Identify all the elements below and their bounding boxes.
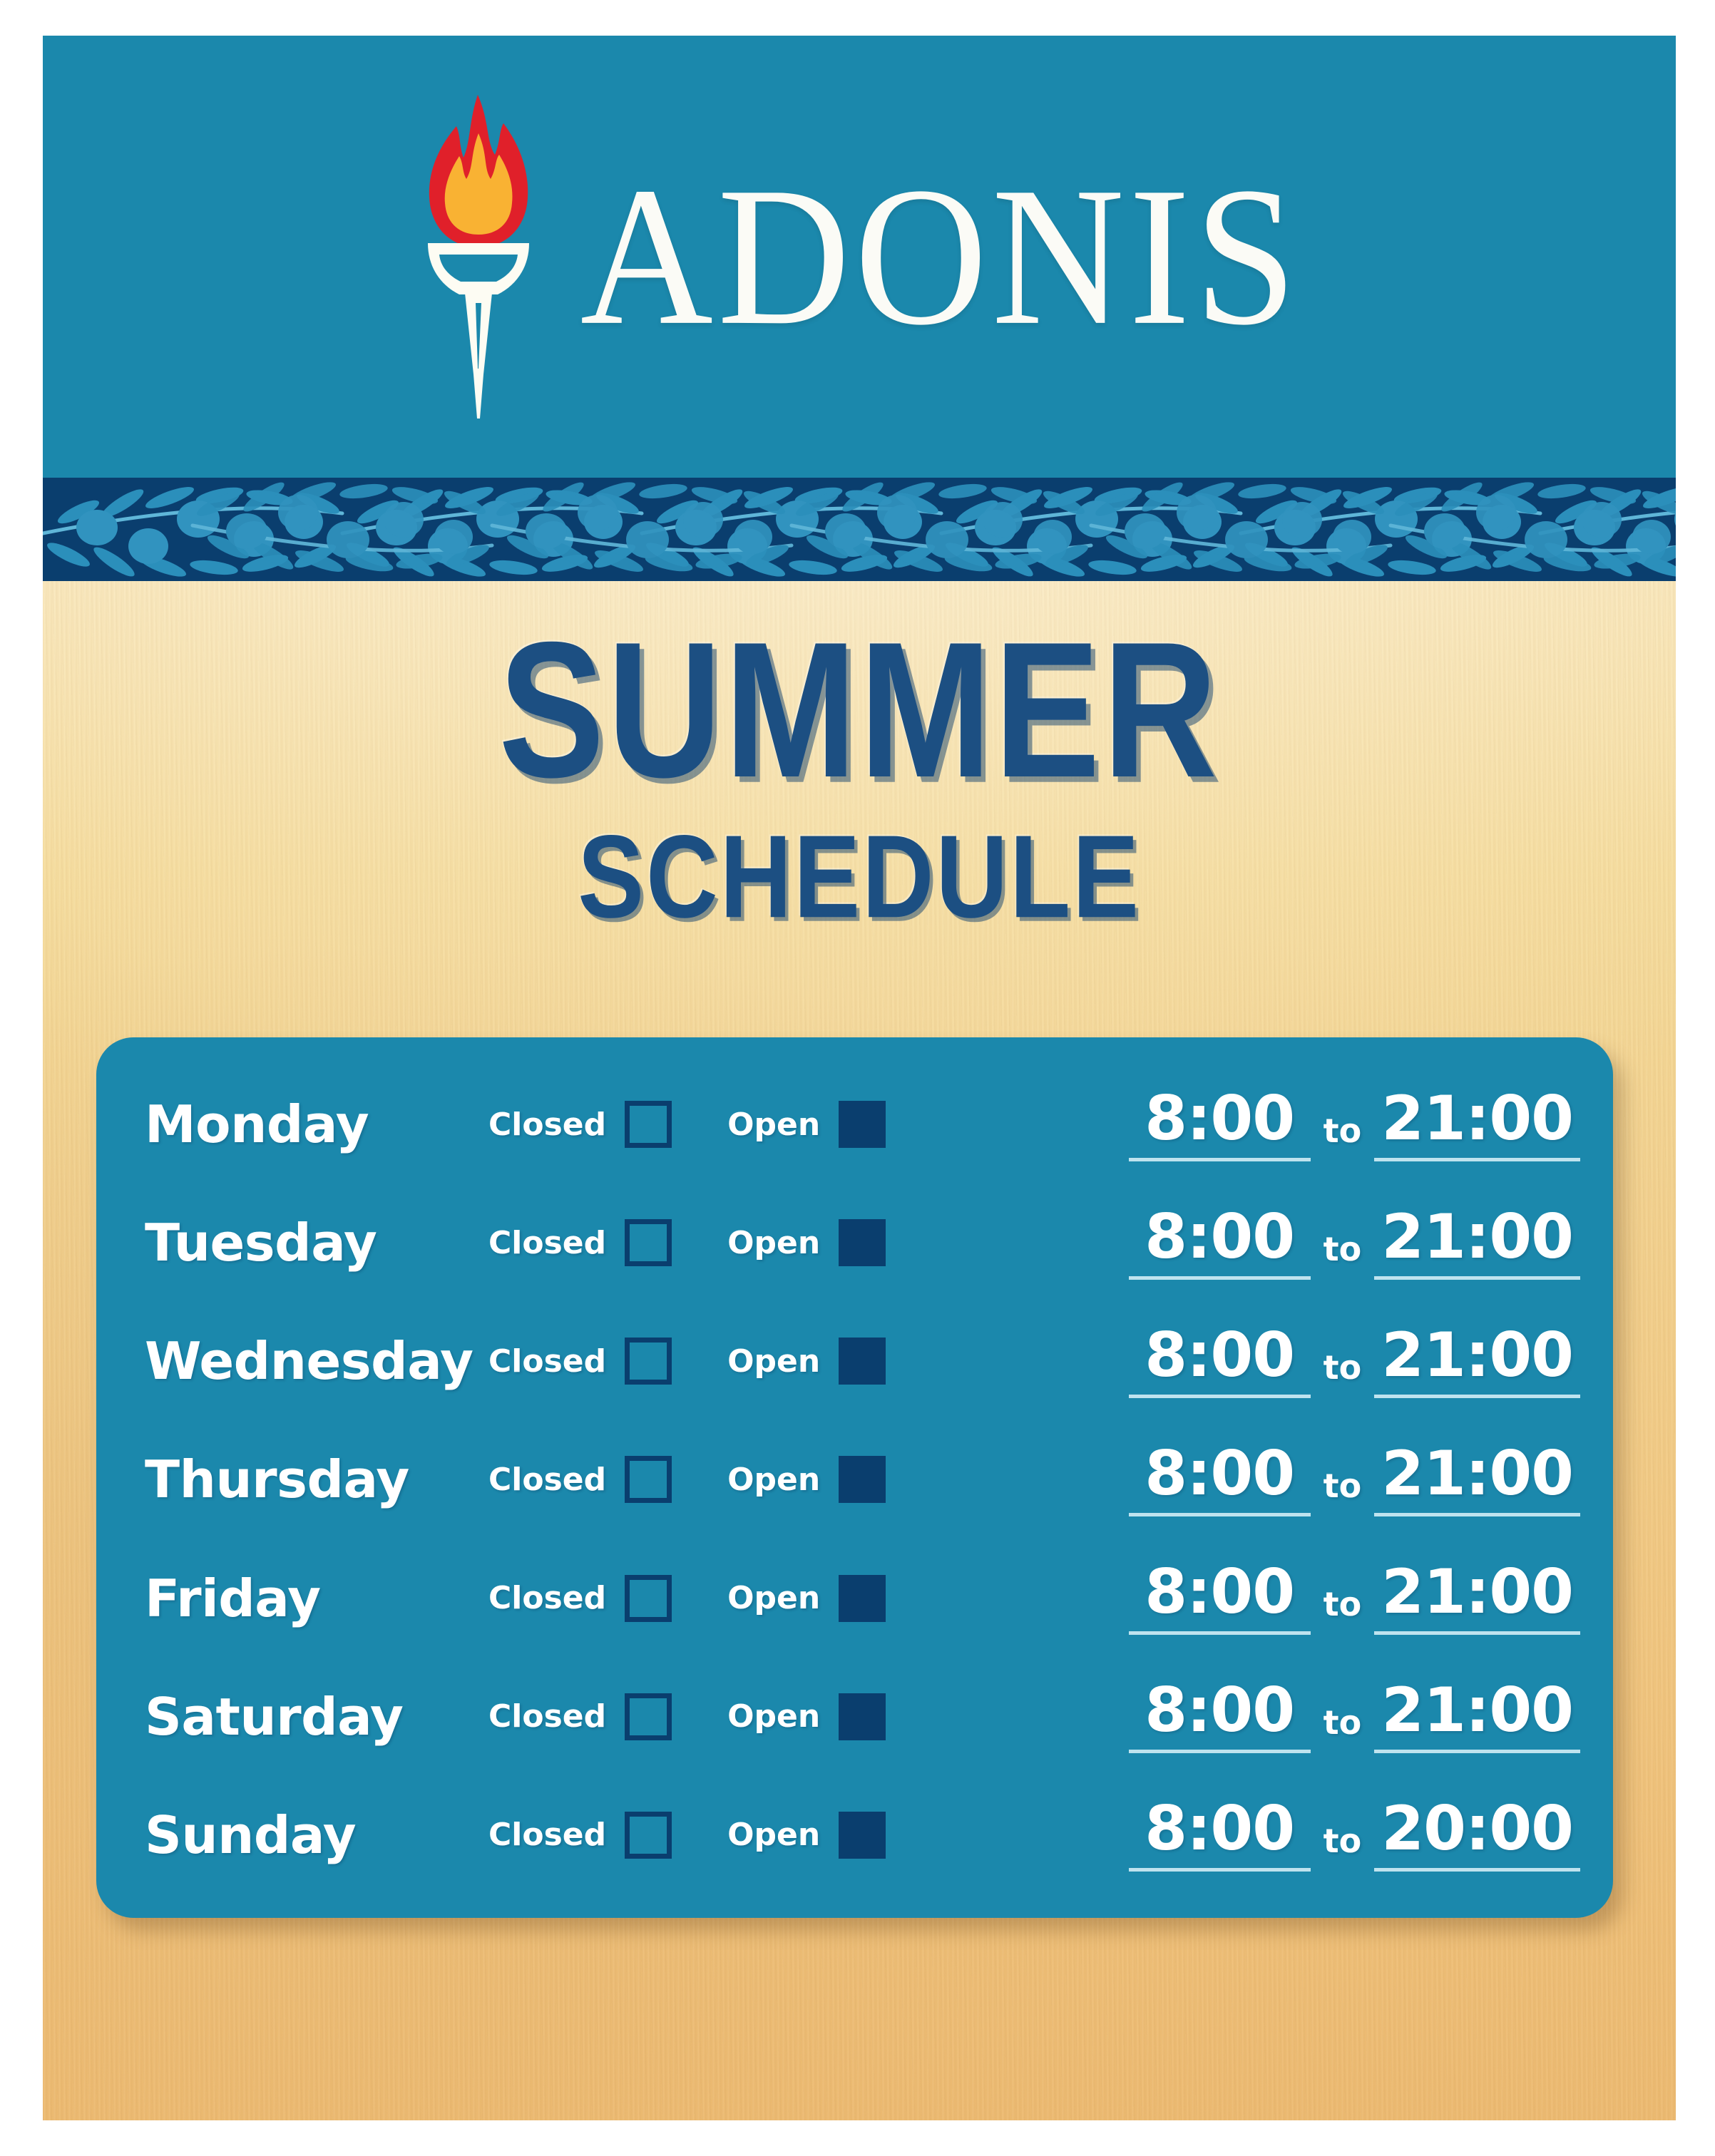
open-checkbox[interactable] — [839, 1101, 886, 1148]
day-label: Friday — [145, 1569, 488, 1628]
schedule-card: MondayClosedOpen8:00to21:00TuesdayClosed… — [96, 1037, 1613, 1918]
close-time-value: 21:00 — [1381, 1320, 1573, 1391]
time-separator: to — [1311, 1585, 1375, 1635]
close-time-field[interactable]: 21:00 — [1374, 1325, 1580, 1398]
open-checkbox[interactable] — [839, 1219, 886, 1266]
closed-checkbox[interactable] — [625, 1338, 672, 1385]
open-checkbox[interactable] — [839, 1575, 886, 1622]
page-subtitle: SCHEDULE — [100, 818, 1619, 935]
hours-group: 8:00to21:00 — [1129, 1680, 1580, 1753]
closed-checkbox-group[interactable]: Closed — [488, 1338, 672, 1385]
open-time-field[interactable]: 8:00 — [1129, 1680, 1311, 1753]
closed-checkbox-group[interactable]: Closed — [488, 1575, 672, 1622]
day-label: Wednesday — [145, 1331, 488, 1391]
open-checkbox-group[interactable]: Open — [727, 1693, 886, 1740]
close-time-field[interactable]: 21:00 — [1374, 1561, 1580, 1635]
open-time-field[interactable]: 8:00 — [1129, 1206, 1311, 1280]
open-time-field[interactable]: 8:00 — [1129, 1443, 1311, 1516]
day-label: Saturday — [145, 1687, 488, 1747]
schedule-row: TuesdayClosedOpen8:00to21:00 — [96, 1189, 1613, 1297]
time-separator: to — [1311, 1230, 1375, 1280]
open-checkbox[interactable] — [839, 1812, 886, 1859]
day-label: Thursday — [145, 1449, 488, 1509]
olive-branch-border-icon — [43, 478, 1676, 581]
closed-checkbox-group[interactable]: Closed — [488, 1693, 672, 1740]
open-label: Open — [727, 1580, 820, 1616]
open-time-value: 8:00 — [1145, 1675, 1294, 1746]
schedule-row: WednesdayClosedOpen8:00to21:00 — [96, 1307, 1613, 1415]
poster-page: ADONIS — [0, 0, 1715, 2156]
close-time-field[interactable]: 20:00 — [1374, 1798, 1580, 1872]
open-time-value: 8:00 — [1145, 1793, 1294, 1864]
brand-name: ADONIS — [580, 171, 1301, 342]
close-time-field[interactable]: 21:00 — [1374, 1680, 1580, 1753]
hours-group: 8:00to21:00 — [1129, 1088, 1580, 1161]
closed-checkbox[interactable] — [625, 1812, 672, 1859]
poster-sheet: ADONIS — [43, 36, 1676, 2120]
logo-lockup: ADONIS — [404, 89, 1301, 424]
closed-checkbox[interactable] — [625, 1219, 672, 1266]
closed-label: Closed — [488, 1817, 606, 1853]
closed-label: Closed — [488, 1698, 606, 1735]
schedule-row: SaturdayClosedOpen8:00to21:00 — [96, 1663, 1613, 1771]
closed-checkbox-group[interactable]: Closed — [488, 1219, 672, 1266]
open-label: Open — [727, 1817, 820, 1853]
open-label: Open — [727, 1107, 820, 1143]
close-time-field[interactable]: 21:00 — [1374, 1443, 1580, 1516]
open-time-value: 8:00 — [1145, 1556, 1294, 1628]
open-time-value: 8:00 — [1145, 1320, 1294, 1391]
closed-checkbox[interactable] — [625, 1456, 672, 1503]
open-checkbox-group[interactable]: Open — [727, 1456, 886, 1503]
open-checkbox-group[interactable]: Open — [727, 1219, 886, 1266]
schedule-row: ThursdayClosedOpen8:00to21:00 — [96, 1425, 1613, 1534]
poster-title-block: SUMMER SCHEDULE — [43, 627, 1676, 930]
time-separator: to — [1311, 1467, 1375, 1516]
open-checkbox[interactable] — [839, 1693, 886, 1740]
close-time-field[interactable]: 21:00 — [1374, 1206, 1580, 1280]
closed-checkbox[interactable] — [625, 1101, 672, 1148]
schedule-row: FridayClosedOpen8:00to21:00 — [96, 1544, 1613, 1653]
hours-group: 8:00to21:00 — [1129, 1561, 1580, 1635]
closed-label: Closed — [488, 1580, 606, 1616]
closed-checkbox-group[interactable]: Closed — [488, 1812, 672, 1859]
time-separator: to — [1311, 1822, 1375, 1872]
open-checkbox-group[interactable]: Open — [727, 1575, 886, 1622]
close-time-value: 21:00 — [1381, 1556, 1573, 1628]
open-label: Open — [727, 1462, 820, 1498]
hours-group: 8:00to20:00 — [1129, 1798, 1580, 1872]
page-title: SUMMER — [108, 617, 1611, 803]
open-checkbox-group[interactable]: Open — [727, 1338, 886, 1385]
open-time-field[interactable]: 8:00 — [1129, 1325, 1311, 1398]
closed-checkbox[interactable] — [625, 1575, 672, 1622]
closed-checkbox-group[interactable]: Closed — [488, 1456, 672, 1503]
open-label: Open — [727, 1343, 820, 1380]
close-time-value: 21:00 — [1381, 1201, 1573, 1273]
closed-checkbox[interactable] — [625, 1693, 672, 1740]
close-time-value: 21:00 — [1381, 1438, 1573, 1509]
time-separator: to — [1311, 1703, 1375, 1753]
open-time-field[interactable]: 8:00 — [1129, 1088, 1311, 1161]
day-label: Tuesday — [145, 1213, 488, 1273]
hours-group: 8:00to21:00 — [1129, 1443, 1580, 1516]
closed-label: Closed — [488, 1462, 606, 1498]
close-time-value: 20:00 — [1381, 1793, 1573, 1864]
schedule-row: MondayClosedOpen8:00to21:00 — [96, 1070, 1613, 1179]
closed-label: Closed — [488, 1225, 606, 1261]
hours-group: 8:00to21:00 — [1129, 1325, 1580, 1398]
day-label: Sunday — [145, 1805, 488, 1865]
brand-header: ADONIS — [43, 36, 1676, 478]
time-separator: to — [1311, 1112, 1375, 1161]
open-checkbox[interactable] — [839, 1456, 886, 1503]
open-time-value: 8:00 — [1145, 1201, 1294, 1273]
schedule-row: SundayClosedOpen8:00to20:00 — [96, 1781, 1613, 1889]
olympic-torch-icon — [404, 89, 553, 424]
closed-label: Closed — [488, 1107, 606, 1143]
close-time-value: 21:00 — [1381, 1083, 1573, 1154]
open-time-field[interactable]: 8:00 — [1129, 1561, 1311, 1635]
time-separator: to — [1311, 1348, 1375, 1398]
closed-label: Closed — [488, 1343, 606, 1380]
open-checkbox-group[interactable]: Open — [727, 1101, 886, 1148]
open-label: Open — [727, 1225, 820, 1261]
open-checkbox[interactable] — [839, 1338, 886, 1385]
hours-group: 8:00to21:00 — [1129, 1206, 1580, 1280]
open-checkbox-group[interactable]: Open — [727, 1812, 886, 1859]
close-time-value: 21:00 — [1381, 1675, 1573, 1746]
close-time-field[interactable]: 21:00 — [1374, 1088, 1580, 1161]
closed-checkbox-group[interactable]: Closed — [488, 1101, 672, 1148]
open-time-value: 8:00 — [1145, 1083, 1294, 1154]
open-time-value: 8:00 — [1145, 1438, 1294, 1509]
open-label: Open — [727, 1698, 820, 1735]
open-time-field[interactable]: 8:00 — [1129, 1798, 1311, 1872]
day-label: Monday — [145, 1094, 488, 1154]
